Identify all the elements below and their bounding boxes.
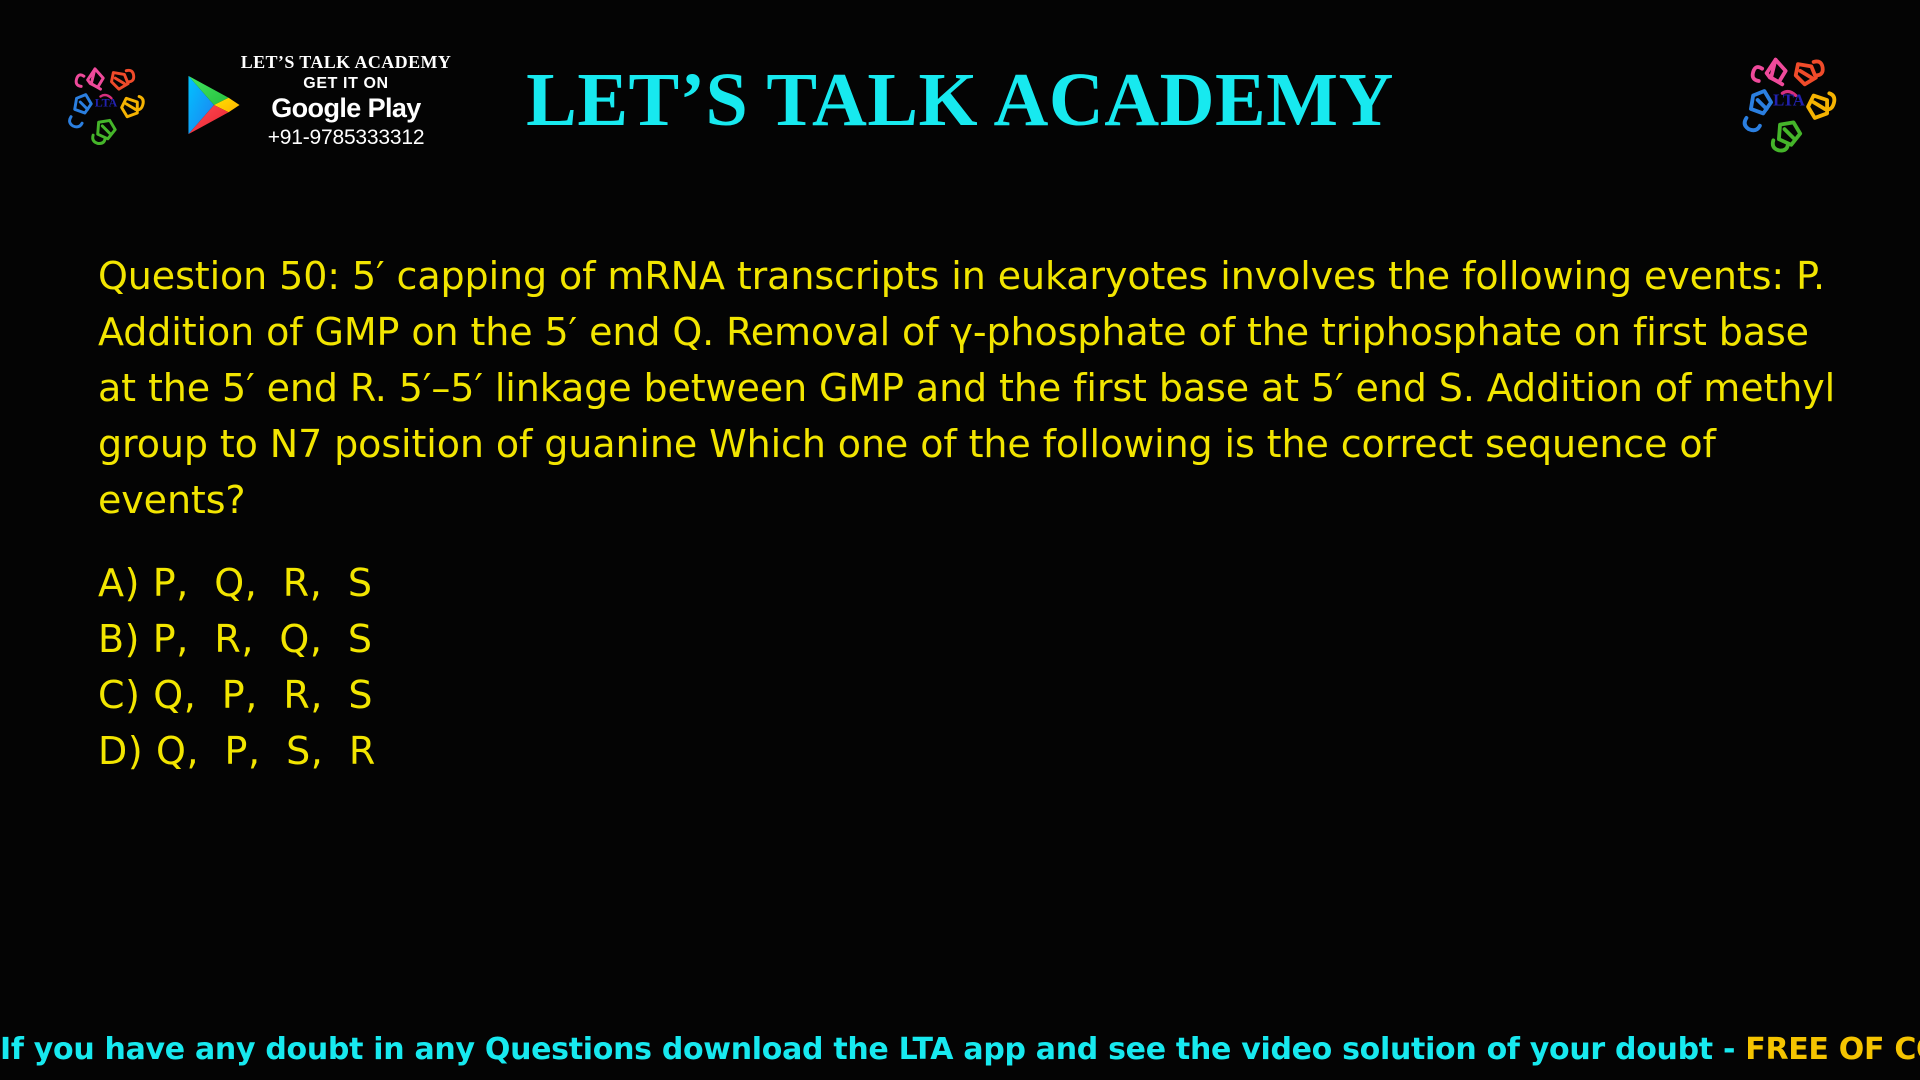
logo-center-label: LTA: [1773, 91, 1805, 110]
footer-message: If you have any doubt in any Questions d…: [0, 1032, 1745, 1067]
option-c[interactable]: C) Q, P, R, S: [98, 667, 998, 723]
lta-protein-ribbon-logo-right-icon: LTA: [1733, 44, 1845, 156]
answer-options-list: A) P, Q, R, S B) P, R, Q, S C) Q, P, R, …: [98, 555, 998, 779]
option-b[interactable]: B) P, R, Q, S: [98, 611, 998, 667]
page-title: LET’S TALK ACADEMY: [0, 62, 1920, 138]
slide-root: LTA: [0, 0, 1920, 1080]
option-d[interactable]: D) Q, P, S, R: [98, 723, 998, 779]
header: LTA: [0, 0, 1920, 185]
question-block: Question 50: 5′ capping of mRNA transcri…: [98, 248, 1838, 528]
option-a[interactable]: A) P, Q, R, S: [98, 555, 998, 611]
footer-highlight: FREE OF COST: [1745, 1032, 1920, 1067]
footer-banner: If you have any doubt in any Questions d…: [0, 1033, 1920, 1066]
question-text: Question 50: 5′ capping of mRNA transcri…: [98, 248, 1838, 528]
